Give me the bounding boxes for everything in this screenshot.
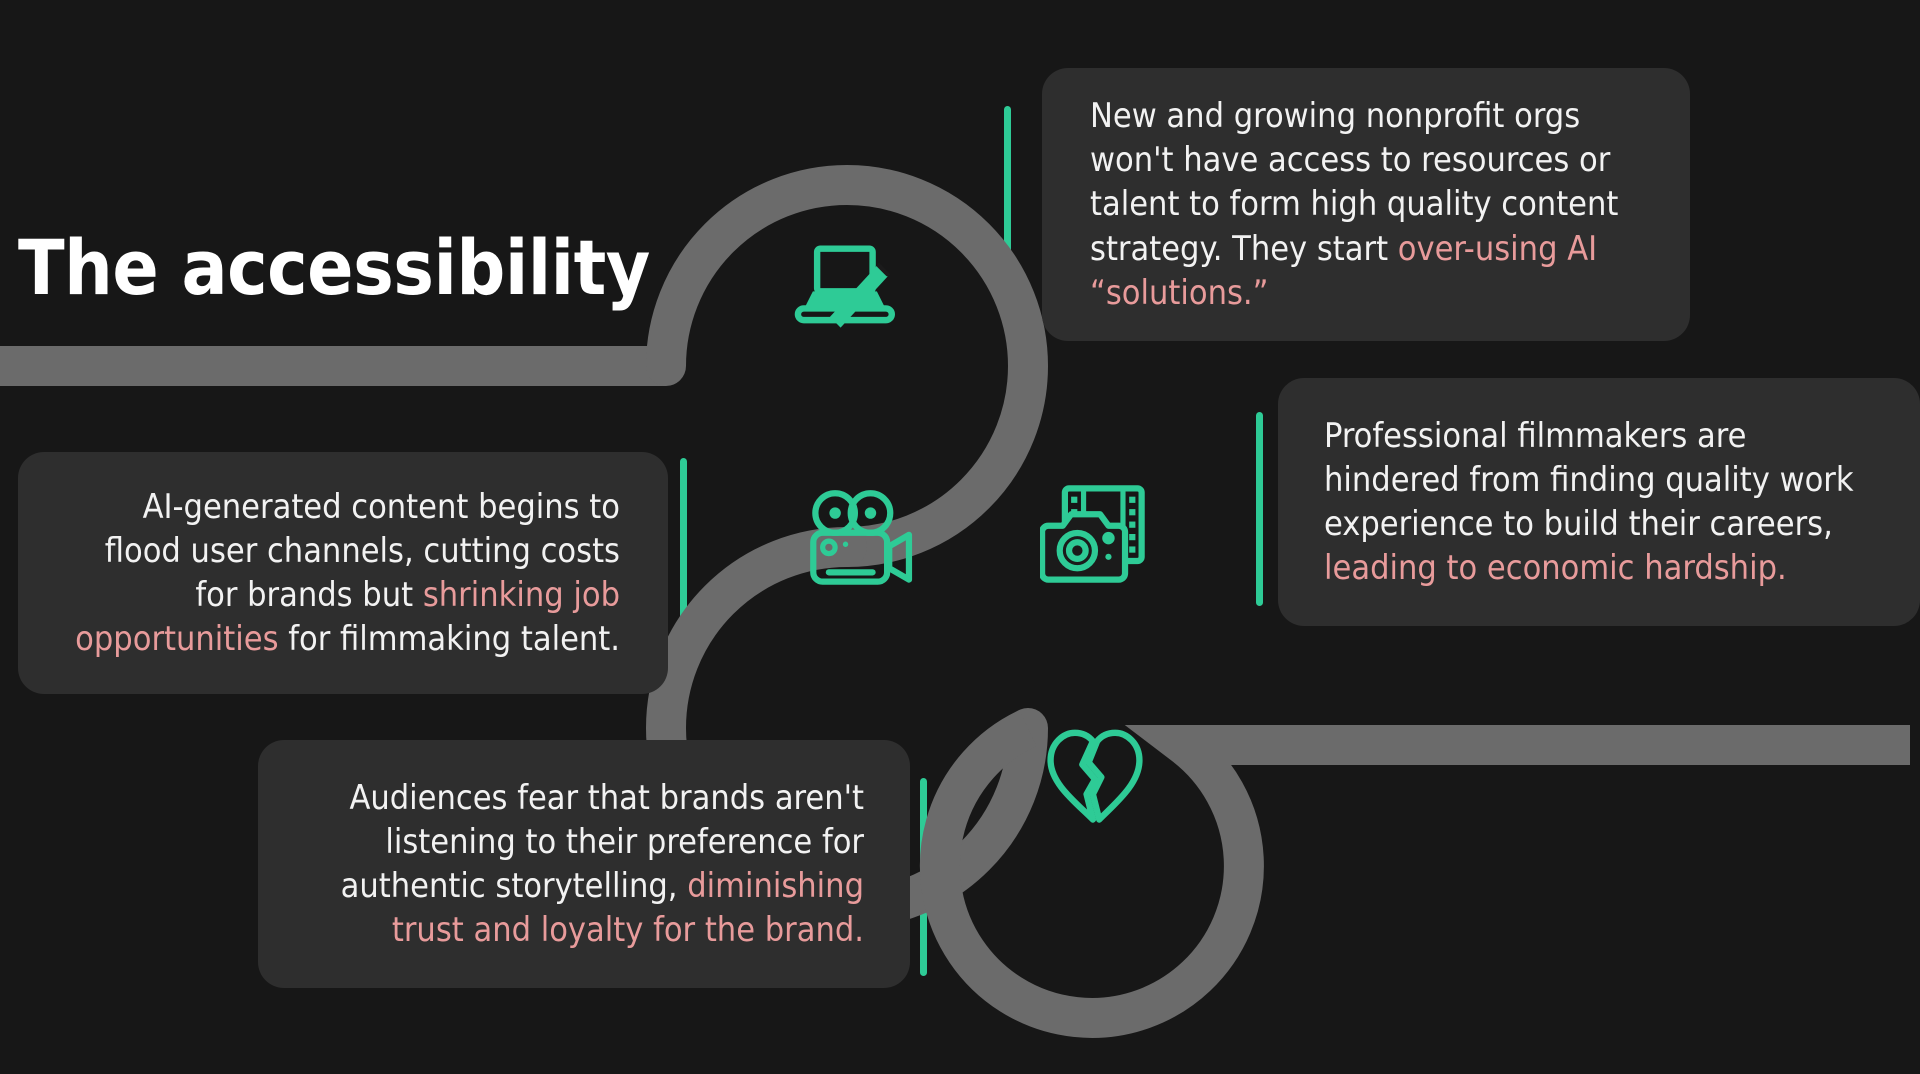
card-ai-generated-content: AI-generated content begins to flood use… (18, 452, 668, 694)
movie-camera-icon (800, 486, 916, 590)
broken-heart-icon (1040, 718, 1150, 828)
page-title-line-1: The accessibility (18, 224, 650, 312)
card-professional-filmmakers-text: Professional filmmakers are hindered fro… (1324, 414, 1882, 591)
card-professional-filmmakers: Professional filmmakers are hindered fro… (1278, 378, 1920, 626)
card-audiences-fear: Audiences fear that brands aren't listen… (258, 740, 910, 988)
card-ai-generated-content-text-tail: for filmmaking talent. (279, 619, 620, 659)
card-professional-filmmakers-text-highlight: leading to economic hardship. (1324, 548, 1787, 588)
infographic-canvas: The accessibility Gap in detail... (0, 0, 1920, 1074)
card-audiences-fear-text: Audiences fear that brands aren't listen… (298, 776, 864, 953)
card-nonprofit-orgs: New and growing nonprofit orgs won't hav… (1042, 68, 1690, 341)
photo-camera-film-icon (1040, 480, 1152, 588)
laptop-pencil-icon (793, 238, 901, 334)
card-professional-filmmakers-text-plain: Professional filmmakers are hindered fro… (1324, 416, 1854, 544)
card-nonprofit-orgs-text: New and growing nonprofit orgs won't hav… (1090, 94, 1648, 315)
accent-bar-top-right (1004, 106, 1011, 302)
accent-bar-bottom (920, 778, 927, 976)
accent-bar-mid-left (680, 458, 687, 650)
card-ai-generated-content-text: AI-generated content begins to flood use… (58, 485, 620, 662)
accent-bar-mid-right (1256, 412, 1263, 606)
